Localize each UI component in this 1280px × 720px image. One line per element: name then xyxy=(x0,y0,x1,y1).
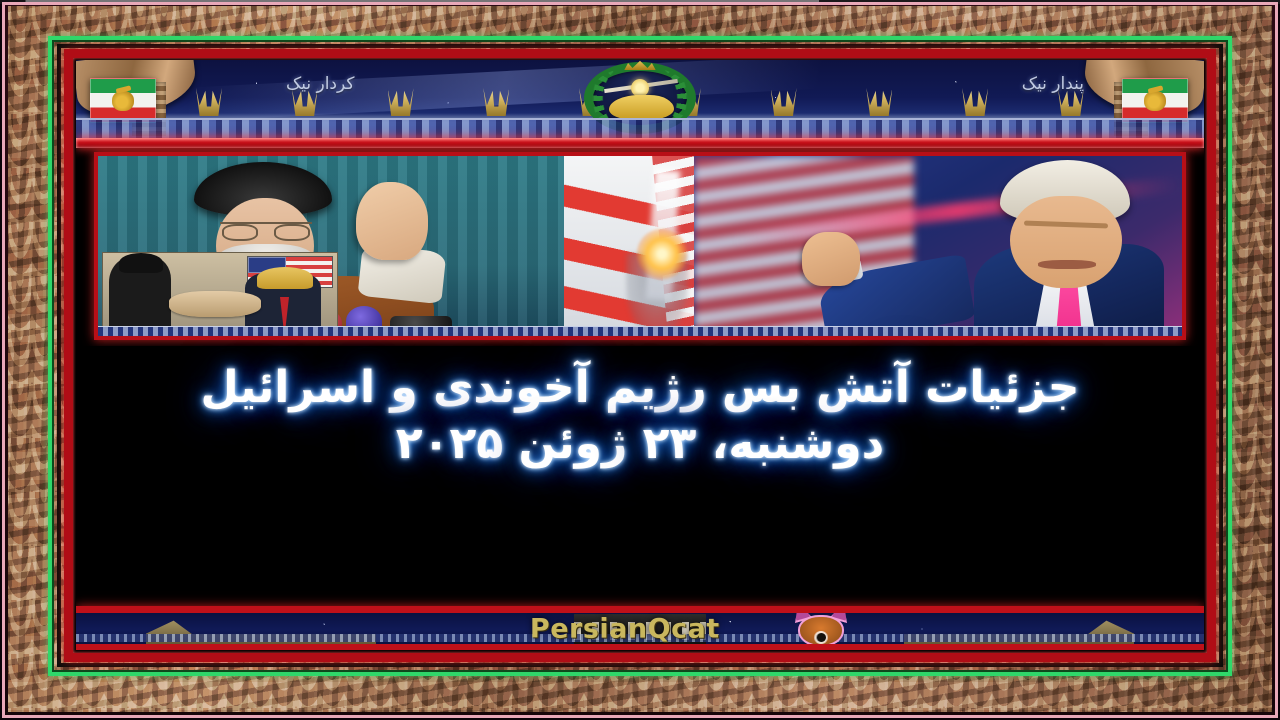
handshake-cartoon-inset xyxy=(102,252,338,334)
raised-fist-icon xyxy=(802,232,860,286)
channel-watermark: PersianQcat xyxy=(530,613,720,644)
cartoon-turban xyxy=(119,253,163,273)
headline-line-1: جزئیات آتش بس رژیم آخوندی و اسرائیل xyxy=(104,360,1176,416)
news-image xyxy=(98,156,1182,336)
headline-block: جزئیات آتش بس رژیم آخوندی و اسرائیل دوشن… xyxy=(76,346,1204,606)
iran-flag-icon-left xyxy=(90,78,156,123)
explosion-flash-icon xyxy=(636,228,688,280)
president-face xyxy=(1010,196,1122,288)
banner-motto-left: کردار نیک xyxy=(286,74,354,94)
lotus-icon xyxy=(483,88,509,116)
lion-sun-flag-emblem xyxy=(1144,91,1166,111)
cleric-raised-hand xyxy=(356,182,428,260)
tv-studio-banner: کردار نیک پندار نیک xyxy=(76,60,1204,138)
lotus-icon xyxy=(866,88,892,116)
mouth-line xyxy=(1038,260,1096,269)
lotus-icon xyxy=(196,88,222,116)
handshake-icon xyxy=(169,291,261,317)
banner-arch-pattern xyxy=(76,118,1204,138)
lotus-icon xyxy=(388,88,414,116)
cat-smile xyxy=(818,644,844,651)
banner-motto-right: پندار نیک xyxy=(1022,74,1084,94)
cat-head xyxy=(798,615,844,647)
news-bottom-strip xyxy=(98,326,1182,336)
lion-sun-flag-emblem xyxy=(112,91,134,111)
watermark-band: PersianQcat xyxy=(76,606,1204,650)
crown-icon xyxy=(624,60,655,70)
cat-head-logo-icon xyxy=(790,609,852,649)
screenshot-root: کردار نیک پندار نیک xyxy=(0,0,1280,720)
lion-icon xyxy=(609,95,674,119)
lotus-icon xyxy=(962,88,988,116)
lotus-icon xyxy=(771,88,797,116)
glasses-icon xyxy=(220,222,312,235)
news-image-frame xyxy=(94,152,1186,340)
content-panel: کردار نیک پندار نیک xyxy=(76,60,1204,650)
president-scene xyxy=(694,156,1182,336)
cartoon-trump-hair xyxy=(257,267,313,289)
headline-line-2: دوشنبه، ۲۳ ژوئن ۲۰۲۵ xyxy=(104,416,1176,472)
cat-eye-right xyxy=(817,633,826,642)
neon-divider-top xyxy=(76,138,1204,148)
cleric-scene xyxy=(98,156,607,336)
iran-flag-icon-right xyxy=(1122,78,1188,123)
